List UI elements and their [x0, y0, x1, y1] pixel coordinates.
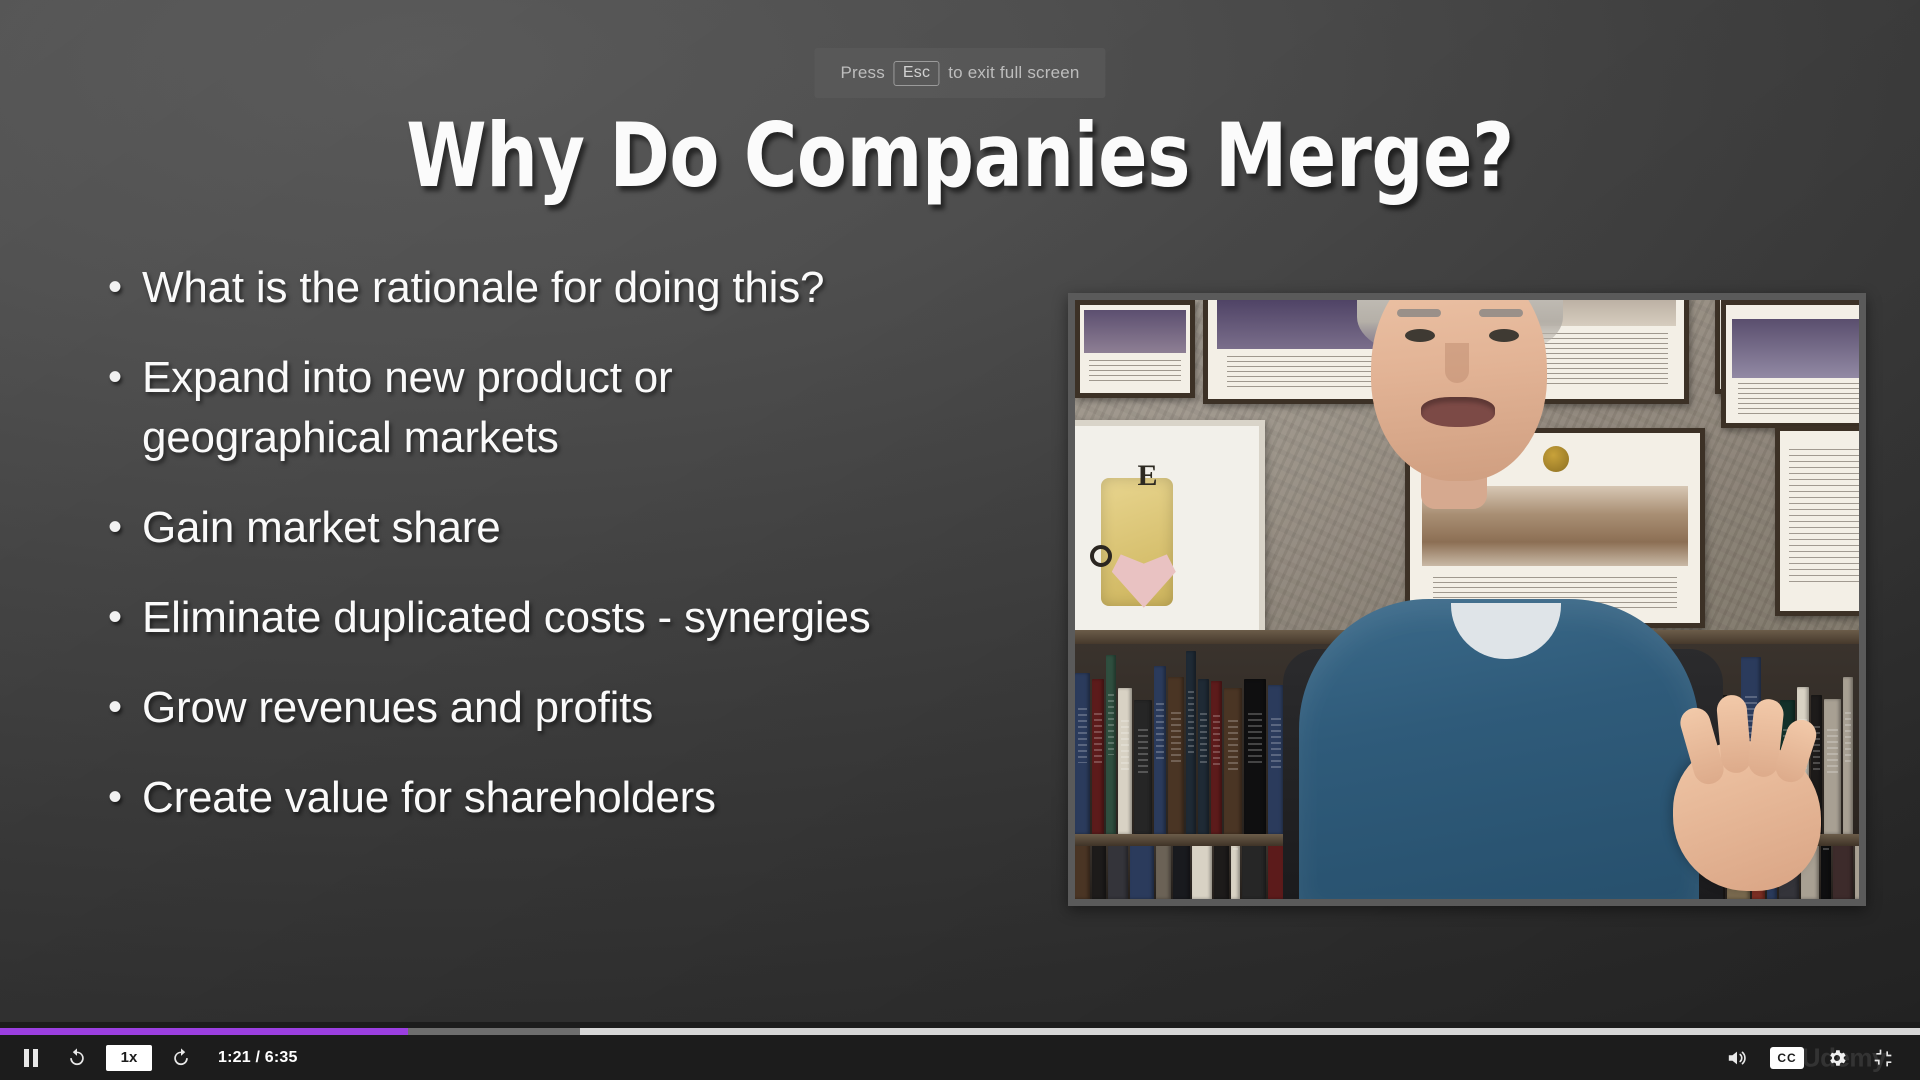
volume-icon [1726, 1048, 1748, 1068]
book-spine [1118, 688, 1132, 834]
finger [1716, 694, 1753, 774]
list-item: • Eliminate duplicated costs - synergies [108, 588, 898, 648]
book-spine [1173, 846, 1190, 899]
gear-icon [1826, 1047, 1848, 1069]
book-spine [1821, 846, 1831, 899]
book-spine [1092, 846, 1106, 899]
framed-document [1775, 426, 1866, 616]
exit-hint-suffix: to exit full screen [948, 63, 1079, 83]
eyebrow-left [1397, 309, 1441, 317]
book-spine [1855, 846, 1859, 899]
eye-left [1405, 329, 1435, 342]
slide-bullet-list: • What is the rationale for doing this? … [108, 258, 898, 858]
progress-scrubber[interactable] [0, 1028, 1920, 1035]
bullet-point-icon: • [108, 678, 142, 736]
book-spine [1231, 846, 1240, 899]
ring-decoration [1090, 545, 1112, 567]
player-control-bar: 1x 1:21 / 6:35 Udemy [0, 1022, 1920, 1080]
bullet-text: Eliminate duplicated costs - synergies [142, 588, 898, 648]
playback-speed-button[interactable]: 1x [106, 1045, 152, 1071]
presenter-hand [1673, 741, 1821, 891]
list-item: • Expand into new product or geographica… [108, 348, 898, 468]
bullet-text: Gain market share [142, 498, 898, 558]
settings-button[interactable] [1814, 1038, 1860, 1078]
captions-label: CC [1777, 1051, 1796, 1065]
slide-stage[interactable]: Press Esc to exit full screen Why Do Com… [0, 0, 1920, 1022]
bullet-text: Expand into new product or geographical … [142, 348, 898, 468]
framed-photo [1075, 300, 1195, 398]
progress-played [0, 1028, 408, 1035]
book-spine [1130, 846, 1154, 899]
book-spine [1198, 679, 1209, 834]
exit-fullscreen-hint: Press Esc to exit full screen [814, 48, 1105, 98]
bullet-text: Grow revenues and profits [142, 678, 898, 738]
book-spine [1211, 681, 1222, 834]
eye-right [1489, 329, 1519, 342]
photo-caption-lines [1789, 449, 1866, 582]
list-item: • Grow revenues and profits [108, 678, 898, 738]
controls-row: 1x 1:21 / 6:35 Udemy [0, 1035, 1920, 1080]
exit-fullscreen-icon [1873, 1048, 1893, 1068]
shirt-collar [1451, 603, 1561, 659]
book-spine [1156, 846, 1171, 899]
exit-hint-prefix: Press [840, 63, 884, 83]
controls-right-group: Udemy CC [1714, 1038, 1920, 1078]
book-spine [1108, 846, 1128, 899]
book-spine [1134, 700, 1152, 834]
book-spine [1075, 846, 1090, 899]
framed-photo [1721, 300, 1866, 428]
slide-title: Why Do Companies Merge? [77, 112, 1843, 200]
bullet-point-icon: • [108, 348, 142, 406]
pause-button[interactable] [8, 1038, 54, 1078]
captions-button[interactable]: CC [1770, 1047, 1804, 1069]
list-item: • Gain market share [108, 498, 898, 558]
esc-key-badge: Esc [894, 61, 939, 86]
bullet-point-icon: • [108, 588, 142, 646]
playback-speed-value: 1x [121, 1049, 138, 1066]
bullet-text: What is the rationale for doing this? [142, 258, 898, 318]
bullet-point-icon: • [108, 768, 142, 826]
photo-caption-lines [1089, 360, 1181, 383]
presenter-figure [1243, 469, 1763, 899]
photo-image [1732, 319, 1866, 378]
list-item: • Create value for shareholders [108, 768, 898, 828]
book-spine [1075, 673, 1090, 834]
volume-button[interactable] [1714, 1038, 1760, 1078]
book-spine [1824, 699, 1841, 834]
book-spine [1154, 666, 1166, 834]
book-spine [1168, 677, 1184, 834]
book-spine [1833, 846, 1853, 899]
book-spine [1214, 846, 1229, 899]
presenter-sweater [1299, 599, 1699, 899]
book-spine [1843, 677, 1853, 834]
mouth [1421, 397, 1495, 427]
time-display: 1:21 / 6:35 [218, 1049, 298, 1067]
exit-fullscreen-button[interactable] [1860, 1038, 1906, 1078]
rewind-icon [66, 1047, 88, 1069]
bullet-point-icon: • [108, 258, 142, 316]
controls-left-group: 1x 1:21 / 6:35 [0, 1038, 298, 1078]
book-spine [1106, 655, 1116, 834]
pause-icon [23, 1049, 39, 1067]
forward-button[interactable] [158, 1038, 204, 1078]
book-spine [1092, 679, 1104, 834]
forward-icon [170, 1047, 192, 1069]
book-spine [1192, 846, 1212, 899]
book-spine [1224, 688, 1242, 834]
photo-image [1084, 310, 1185, 352]
bullet-point-icon: • [108, 498, 142, 556]
photo-caption-lines [1738, 383, 1864, 414]
medal-monogram: E [1138, 459, 1158, 493]
list-item: • What is the rationale for doing this? [108, 258, 898, 318]
eyebrow-right [1479, 309, 1523, 317]
bullet-text: Create value for shareholders [142, 768, 898, 828]
presenter-head [1371, 293, 1547, 481]
book-spine [1186, 651, 1196, 834]
nose [1445, 343, 1469, 383]
rewind-button[interactable] [54, 1038, 100, 1078]
presenter-video-overlay[interactable]: E [1068, 293, 1866, 906]
video-player: Press Esc to exit full screen Why Do Com… [0, 0, 1920, 1080]
